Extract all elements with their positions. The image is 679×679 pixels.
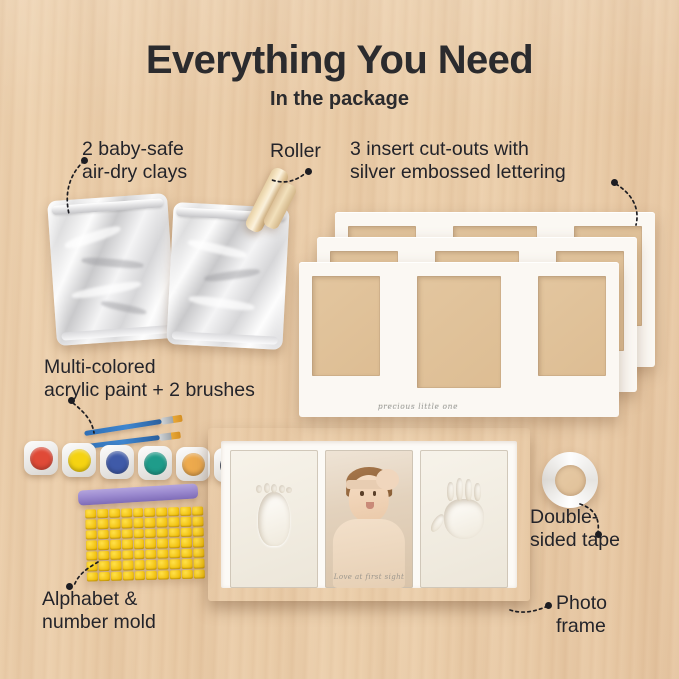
alphabet-number-mold	[85, 506, 205, 581]
leader-dot-photo-frame	[545, 602, 552, 609]
footprint-toes	[256, 483, 292, 493]
photo-frame: Love at first sight	[208, 428, 530, 601]
footprint-panel	[230, 450, 318, 588]
paint-pot-1	[24, 441, 58, 475]
insert-script-3: precious little one	[217, 402, 619, 411]
leader-dot-roller	[305, 168, 312, 175]
page-subtitle: In the package	[0, 88, 679, 111]
page-title: Everything You Need	[0, 38, 679, 83]
baby-bow	[376, 469, 399, 490]
baby-photo	[325, 450, 413, 588]
baby-eye-right	[373, 491, 377, 495]
handprint-palm	[444, 499, 484, 539]
paint-pot-5	[176, 447, 210, 481]
label-roller: Roller	[270, 140, 321, 163]
insert-window	[538, 276, 606, 376]
insert-window	[312, 276, 380, 376]
pouch-crease	[188, 294, 255, 312]
mold-tool	[78, 483, 199, 505]
insert-window	[417, 276, 501, 388]
clay-handprint	[444, 499, 484, 539]
leader-line-inserts	[614, 182, 650, 228]
pouch-crease	[64, 224, 122, 251]
paint-pot-4	[138, 446, 172, 480]
pouch-crease	[204, 267, 261, 283]
pouch-crease	[71, 279, 141, 300]
baby-mouth	[366, 502, 374, 508]
pouch-crease	[100, 300, 146, 316]
label-paint: Multi-colored acrylic paint + 2 brushes	[44, 356, 255, 402]
insert-cutout-1: precious little one	[299, 262, 619, 417]
frame-matboard: Love at first sight	[221, 441, 517, 588]
paint-pot-2	[62, 443, 96, 477]
leader-dot-tape	[595, 531, 602, 538]
label-alphabet-mold: Alphabet & number mold	[42, 588, 156, 634]
leader-line-paint	[70, 400, 104, 436]
leader-dot-inserts	[611, 179, 618, 186]
leader-dot-paint	[68, 397, 75, 404]
baby-eye-left	[360, 491, 364, 495]
footprint-sole	[258, 492, 290, 546]
handprint-fingers	[447, 478, 481, 501]
leader-line-clays	[60, 158, 100, 218]
pouch-crease	[81, 256, 143, 269]
frame-caption: Love at first sight	[221, 573, 517, 581]
clay-footprint	[258, 492, 290, 546]
leader-dot-clays	[81, 157, 88, 164]
label-photo-frame: Photo frame	[556, 592, 607, 638]
paint-pot-3	[100, 445, 134, 479]
pouch-crease	[187, 238, 247, 260]
leader-line-alphabet	[70, 560, 102, 590]
leader-line-tape	[578, 502, 608, 536]
handprint-thumb	[428, 512, 446, 534]
label-inserts: 3 insert cut-outs with silver embossed l…	[350, 138, 566, 184]
leader-line-roller	[268, 168, 310, 196]
baby-illustration	[325, 450, 413, 588]
infographic-canvas: Everything You Need In the package Bundl…	[0, 0, 679, 679]
leader-dot-alphabet	[66, 583, 73, 590]
double-sided-tape-roll	[542, 452, 598, 508]
handprint-panel	[420, 450, 508, 588]
